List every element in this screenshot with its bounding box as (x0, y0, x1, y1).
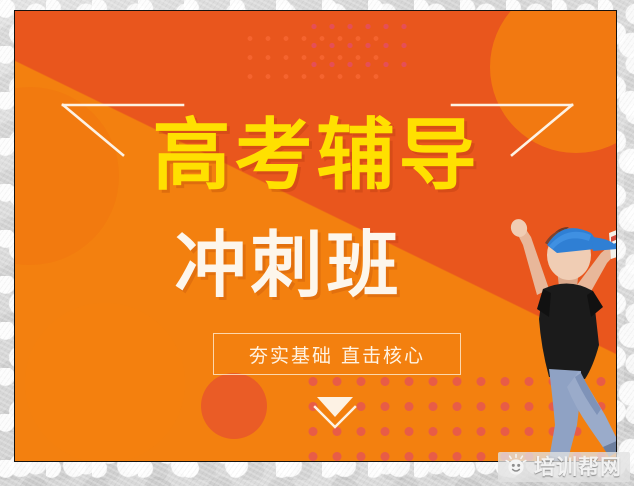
paper-background-frame: 高考辅导 冲刺班 夯实基础 直击核心 (0, 0, 634, 486)
decorative-circle-left-bottom (25, 303, 185, 462)
smiley-sun-icon (504, 453, 528, 482)
jumping-student-illustration (497, 219, 617, 462)
down-arrow-icon (311, 393, 359, 438)
dot-grid-top-pink-icon (305, 17, 417, 79)
promo-poster: 高考辅导 冲刺班 夯实基础 直击核心 (14, 10, 617, 462)
decorative-circle-small (201, 373, 267, 439)
watermark-label: 培训帮网 (534, 457, 622, 478)
watermark: 培训帮网 (498, 452, 630, 482)
